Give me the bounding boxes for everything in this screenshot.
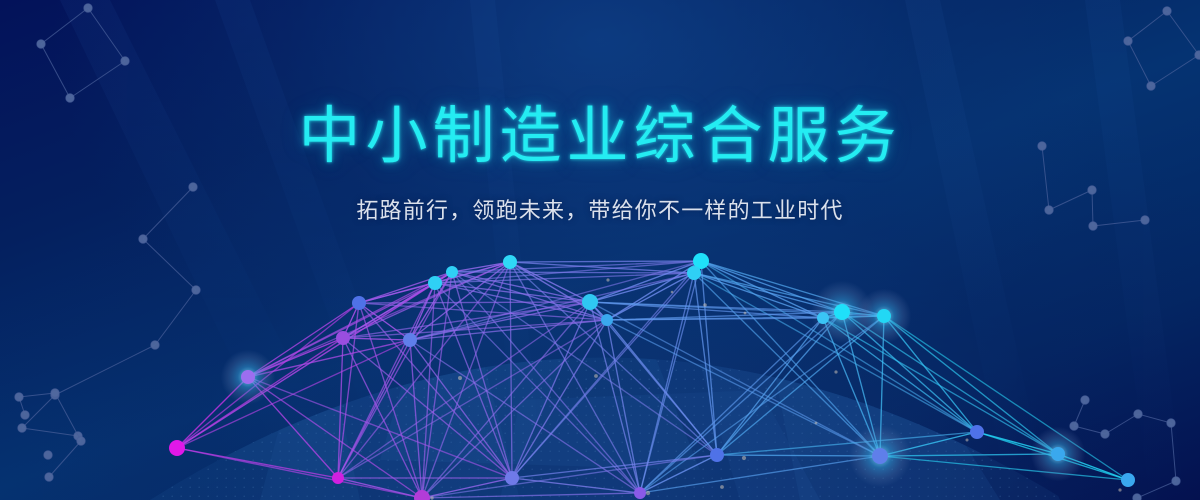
dust-particles [0, 0, 1200, 500]
hero-banner: 中小制造业综合服务 拓路前行，领跑未来，带给你不一样的工业时代 [0, 0, 1200, 500]
